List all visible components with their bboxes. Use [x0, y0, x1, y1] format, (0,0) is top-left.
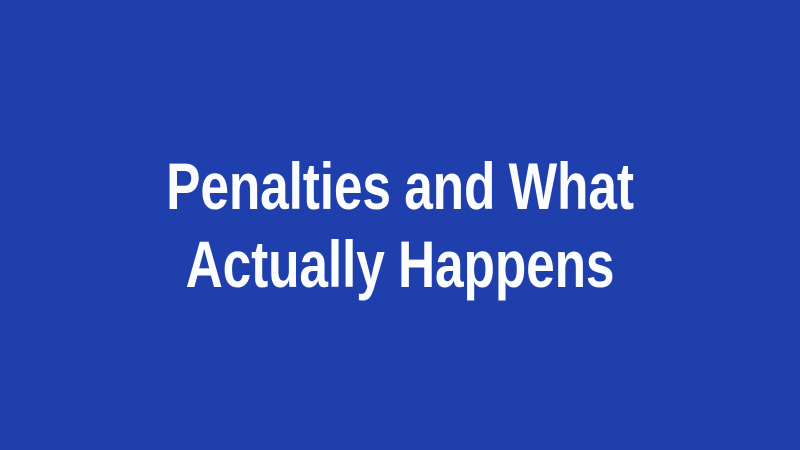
title-block: Penalties and What Actually Happens — [50, 147, 750, 303]
title-slide: Penalties and What Actually Happens — [0, 0, 800, 450]
page-title: Penalties and What Actually Happens — [127, 147, 673, 303]
